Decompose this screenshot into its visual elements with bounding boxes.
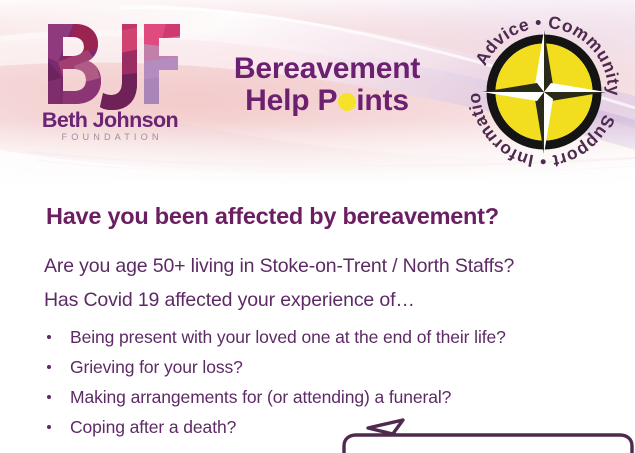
- poster-canvas: Beth Johnson FOUNDATION Bereavement Help…: [0, 0, 635, 453]
- page-headline: Have you been affected by bereavement?: [46, 203, 499, 230]
- list-item-label: Making arrangements for (or attending) a…: [70, 387, 451, 407]
- subline-covid: Has Covid 19 affected your experience of…: [44, 289, 415, 312]
- compass-star-icon: Advice • Community Support • Information: [458, 6, 630, 178]
- title-line-2-after: ints: [356, 84, 409, 117]
- list-item-label: Coping after a death?: [70, 417, 236, 437]
- list-item-label: Being present with your loved one at the…: [70, 327, 506, 347]
- list-item-label: Grieving for your loss?: [70, 357, 243, 377]
- question-bullet-list: Being present with your loved one at the…: [44, 322, 624, 442]
- bullet-dot-icon: [47, 365, 51, 369]
- bullet-dot-icon: [47, 425, 51, 429]
- subline-eligibility: Are you age 50+ living in Stoke-on-Trent…: [44, 255, 514, 278]
- title-line-2: Help Points: [196, 85, 458, 117]
- bjf-foundation-label: FOUNDATION: [36, 133, 184, 142]
- bullet-dot-icon: [47, 335, 51, 339]
- bjf-monogram-icon: [44, 22, 180, 110]
- header-band: Beth Johnson FOUNDATION Bereavement Help…: [0, 0, 635, 186]
- poster-title: Bereavement Help Points: [196, 53, 458, 118]
- bullet-dot-icon: [47, 395, 51, 399]
- title-line-2-before: Help P: [245, 84, 337, 117]
- list-item: Grieving for your loss?: [44, 352, 624, 382]
- bjf-wordmark: Beth Johnson: [36, 110, 184, 132]
- title-line-1: Bereavement: [196, 53, 458, 85]
- list-item: Being present with your loved one at the…: [44, 322, 624, 352]
- list-item: Coping after a death?: [44, 412, 624, 442]
- yellow-dot-o-icon: [338, 93, 356, 111]
- list-item: Making arrangements for (or attending) a…: [44, 382, 624, 412]
- bjf-logo: Beth Johnson FOUNDATION: [36, 22, 184, 147]
